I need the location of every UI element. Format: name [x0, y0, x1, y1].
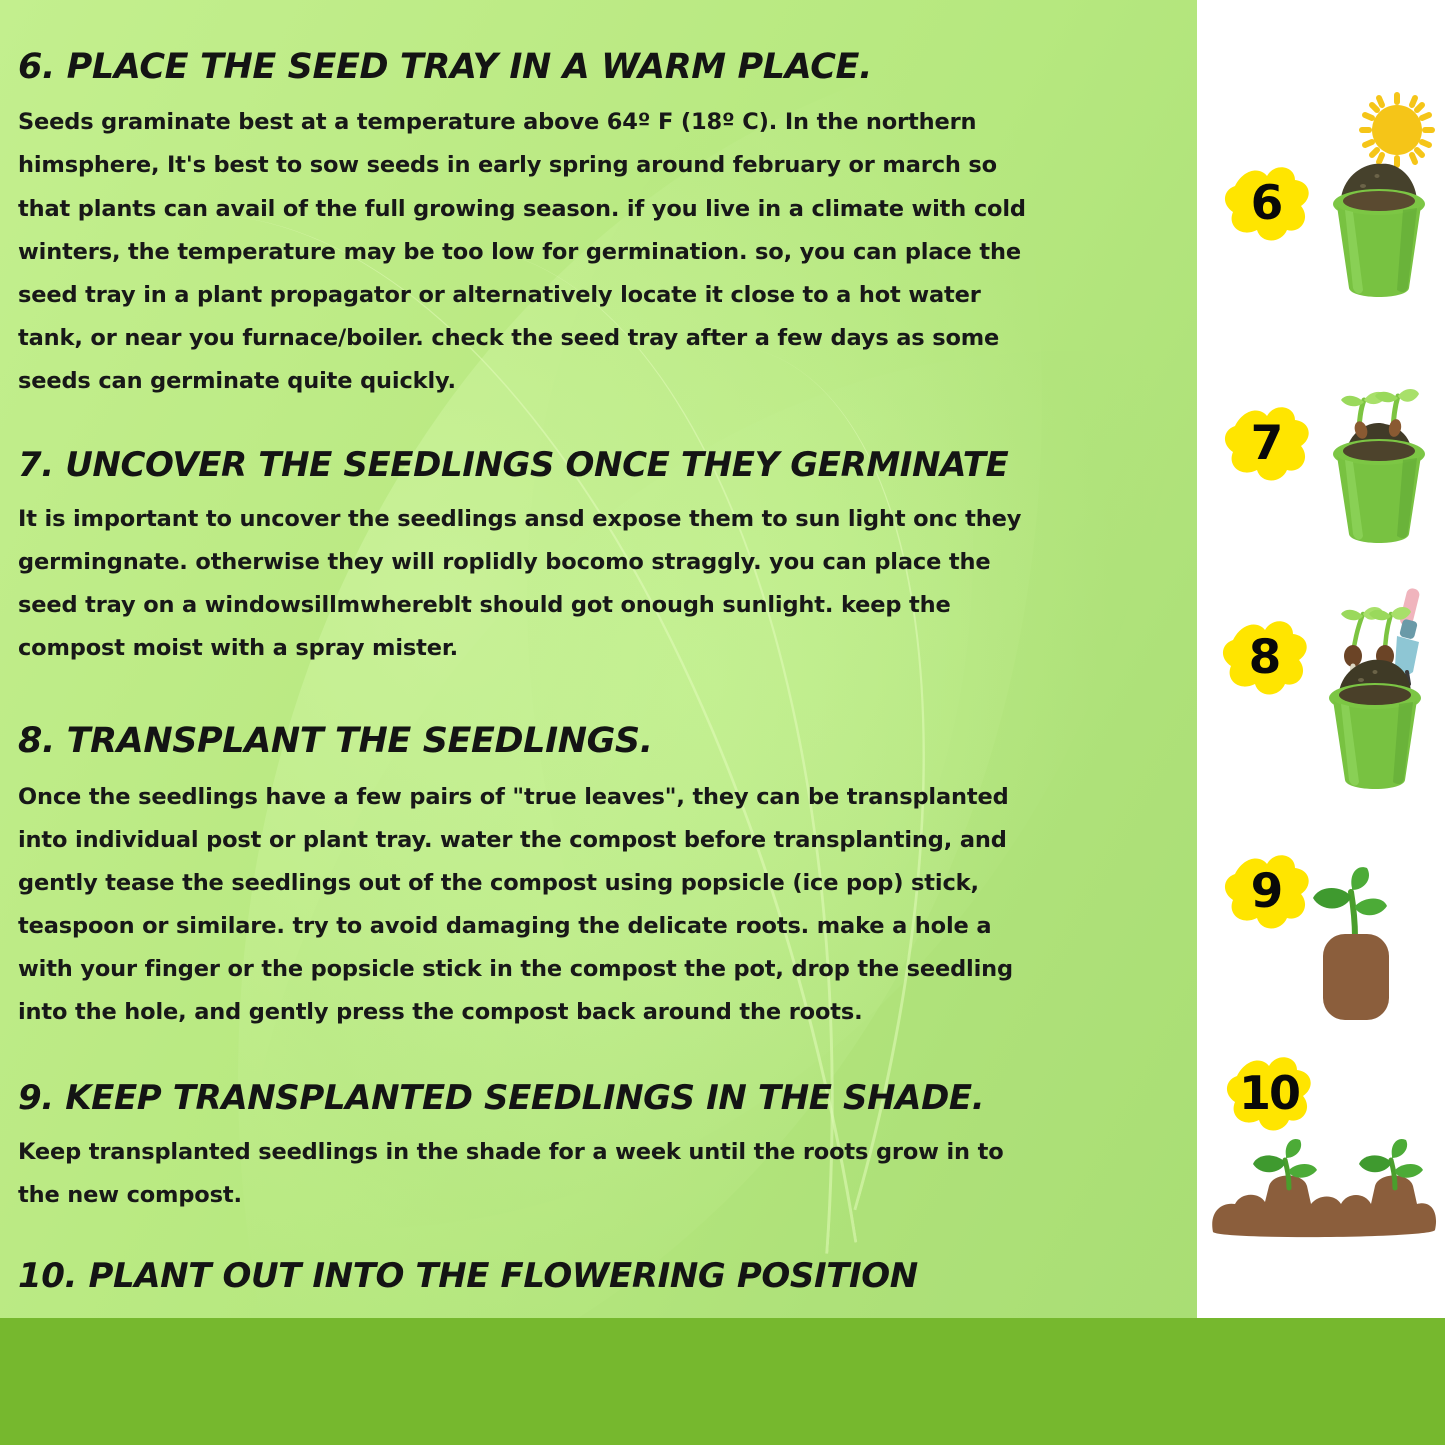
green-content-panel: 6. PLACE THE SEED TRAY IN A WARM PLACE. …	[0, 0, 1197, 1318]
step-illustration-rail: 6	[1197, 0, 1445, 1318]
step-block-6: 6. PLACE THE SEED TRAY IN A WARM PLACE. …	[18, 48, 1047, 404]
step-heading-10: 10. PLANT OUT INTO THE FLOWERING POSITIO…	[18, 1257, 1047, 1295]
step-block-8: 8. TRANSPLANT THE SEEDLINGS. Once the se…	[18, 722, 1047, 1034]
step-badge-10: 10	[1221, 1050, 1317, 1136]
step-badge-6: 6	[1219, 160, 1315, 246]
step-heading-6: 6. PLACE THE SEED TRAY IN A WARM PLACE.	[18, 48, 1047, 87]
step-body-7: It is important to uncover the seedlings…	[18, 498, 1047, 671]
soil-mound	[1212, 1176, 1436, 1238]
art-pot-with-two-sprouts	[1315, 358, 1443, 558]
rail-item-8: 8	[1197, 580, 1445, 810]
step-body-10: Once plants have reached the stage where…	[18, 1309, 1047, 1318]
art-two-seedlings-in-ground	[1207, 1126, 1439, 1246]
step-badge-8: 8	[1217, 614, 1313, 700]
sun-icon	[1362, 95, 1432, 165]
step-heading-7: 7. UNCOVER THE SEEDLINGS ONCE THEY GERMI…	[18, 446, 1047, 484]
leaf-left	[1313, 888, 1351, 909]
art-pot-with-soil-and-sun	[1315, 90, 1443, 320]
soil-block	[1323, 934, 1389, 1020]
rail-item-7: 7	[1197, 352, 1445, 564]
rail-item-10: 10	[1197, 1044, 1445, 1272]
step-heading-9: 9. KEEP TRANSPLANTED SEEDLINGS IN THE SH…	[18, 1079, 1047, 1117]
step-badge-number-9: 9	[1251, 868, 1284, 915]
step-badge-number-6: 6	[1251, 180, 1284, 227]
step-badge-number-10: 10	[1239, 1070, 1299, 1116]
step-block-10: 10. PLANT OUT INTO THE FLOWERING POSITIO…	[18, 1257, 1047, 1318]
art-pot-with-seedlings-and-trowel	[1309, 580, 1445, 806]
step-heading-8: 8. TRANSPLANT THE SEEDLINGS.	[18, 722, 1047, 761]
step-block-9: 9. KEEP TRANSPLANTED SEEDLINGS IN THE SH…	[18, 1079, 1047, 1217]
footer-bar	[0, 1318, 1445, 1445]
step-body-6: Seeds graminate best at a temperature ab…	[18, 101, 1047, 403]
step-badge-number-8: 8	[1249, 634, 1282, 681]
step-badge-7: 7	[1219, 400, 1315, 486]
art-soil-block-with-seedling	[1295, 860, 1421, 1030]
infographic-page: 6. PLACE THE SEED TRAY IN A WARM PLACE. …	[0, 0, 1445, 1445]
leaf-top	[1351, 867, 1369, 890]
step-block-7: 7. UNCOVER THE SEEDLINGS ONCE THEY GERMI…	[18, 446, 1047, 671]
step-body-9: Keep transplanted seedlings in the shade…	[18, 1131, 1047, 1217]
steps-content: 6. PLACE THE SEED TRAY IN A WARM PLACE. …	[0, 0, 1197, 1318]
step-badge-number-7: 7	[1251, 420, 1284, 467]
rail-item-9: 9	[1197, 840, 1445, 1036]
rail-item-6: 6	[1197, 88, 1445, 324]
step-body-8: Once the seedlings have a few pairs of "…	[18, 776, 1047, 1035]
leaf-right	[1355, 899, 1387, 916]
